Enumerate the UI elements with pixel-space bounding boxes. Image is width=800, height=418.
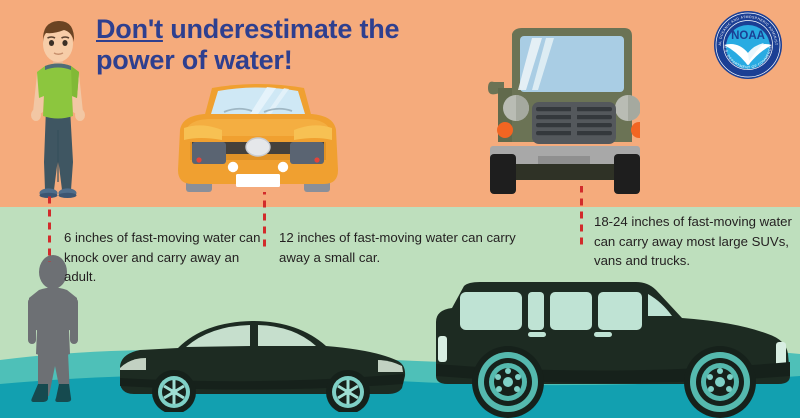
- caption-small-car: 12 inches of fast-moving water can carry…: [279, 228, 524, 267]
- noaa-acronym: NOAA: [731, 30, 765, 42]
- flood-safety-infographic: Don't underestimate the power of water! …: [0, 0, 800, 418]
- standing-man-illustration: [20, 12, 96, 208]
- caption-suv: 18-24 inches of fast-moving water can ca…: [594, 212, 794, 271]
- sedan-silhouette: [112, 312, 408, 412]
- green-truck-illustration: [474, 24, 640, 204]
- connector-line-adult: [48, 196, 51, 262]
- suv-silhouette: [424, 272, 796, 418]
- page-title: Don't underestimate the power of water!: [96, 14, 436, 76]
- noaa-seal-logo: NOAA NATIONAL OCEANIC AND ATMOSPHERIC AD…: [714, 11, 782, 79]
- page-title-emphasis: Don't: [96, 14, 163, 44]
- connector-line-suv: [580, 186, 583, 250]
- orange-sports-car-illustration: [172, 78, 344, 202]
- caption-adult: 6 inches of fast-moving water can knock …: [64, 228, 269, 287]
